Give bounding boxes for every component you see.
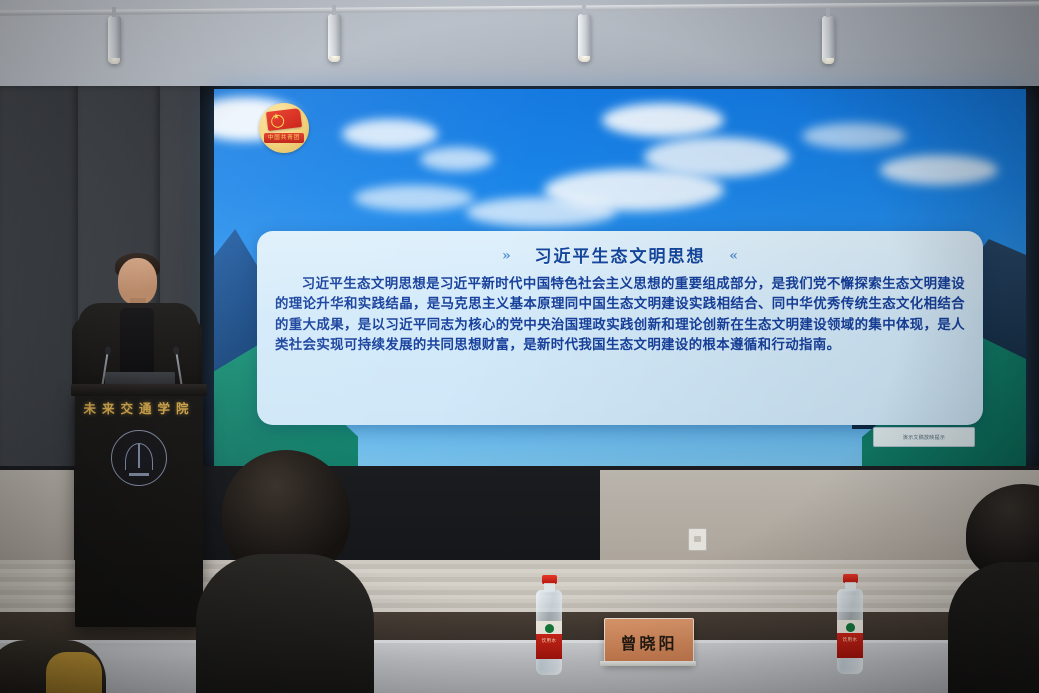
cloud xyxy=(602,103,724,137)
audience-center xyxy=(196,450,374,693)
cloud xyxy=(342,119,438,149)
chevron-right-icon: » xyxy=(502,248,511,264)
name-plate-text: 曾晓阳 xyxy=(620,630,677,654)
lectern: 未来交通学院 xyxy=(75,392,203,627)
cloud xyxy=(420,147,494,171)
cloud xyxy=(802,123,906,149)
track-light xyxy=(578,14,591,62)
table-edge xyxy=(0,640,1039,643)
audience-shoulders xyxy=(948,562,1039,693)
tree-icon xyxy=(545,624,554,633)
lectern-sign-text: 未来交通学院 xyxy=(75,398,203,417)
cloud xyxy=(880,155,998,185)
slide-title-text: 习近平生态文明思想 xyxy=(535,247,706,267)
track-light xyxy=(328,14,341,62)
name-plate: 曾晓阳 xyxy=(604,618,694,665)
audience-left-scarf xyxy=(46,652,102,693)
table-top xyxy=(0,640,1039,693)
lectern-top-edge xyxy=(71,384,207,396)
bottle-label: 饮用水 xyxy=(837,620,863,658)
bottle-label: 饮用水 xyxy=(536,621,562,659)
speaker-shirt xyxy=(120,308,154,380)
communist-youth-league-emblem: 中国共青团 xyxy=(259,103,309,153)
audience-shoulders xyxy=(196,554,374,693)
cloud xyxy=(466,197,616,227)
slide-title: » 习近平生态文明思想 « xyxy=(257,242,983,267)
audience-right xyxy=(956,484,1039,693)
track-light xyxy=(108,16,121,64)
emblem-band-text: 中国共青团 xyxy=(264,133,304,143)
projection-screen[interactable]: 中国共青团 » 习近平生态文明思想 « 习近平生态文明思想是习近平新时代中国特色… xyxy=(214,89,1026,467)
university-crest-icon xyxy=(111,430,167,486)
bottle-label-text: 饮用水 xyxy=(837,637,863,643)
slide-text-card: » 习近平生态文明思想 « 习近平生态文明思想是习近平新时代中国特色社会主义思想… xyxy=(257,231,983,425)
chevron-left-icon: « xyxy=(729,248,738,264)
name-plate-base xyxy=(600,661,696,666)
slide-body-text: 习近平生态文明思想是习近平新时代中国特色社会主义思想的重要组成部分，是我们党不懈… xyxy=(275,274,965,356)
emblem-star-icon xyxy=(270,114,284,128)
cloud xyxy=(354,185,474,211)
track-light xyxy=(822,16,835,64)
emblem-band: 中国共青团 xyxy=(264,133,304,143)
tree-icon xyxy=(846,623,855,632)
presentation-tooltip[interactable]: 演示文稿放映提示 xyxy=(873,427,975,447)
lecture-hall-scene: 中国共青团 » 习近平生态文明思想 « 习近平生态文明思想是习近平新时代中国特色… xyxy=(0,0,1039,693)
bottle-label-text: 饮用水 xyxy=(536,638,562,644)
wall-outlet xyxy=(688,528,707,551)
